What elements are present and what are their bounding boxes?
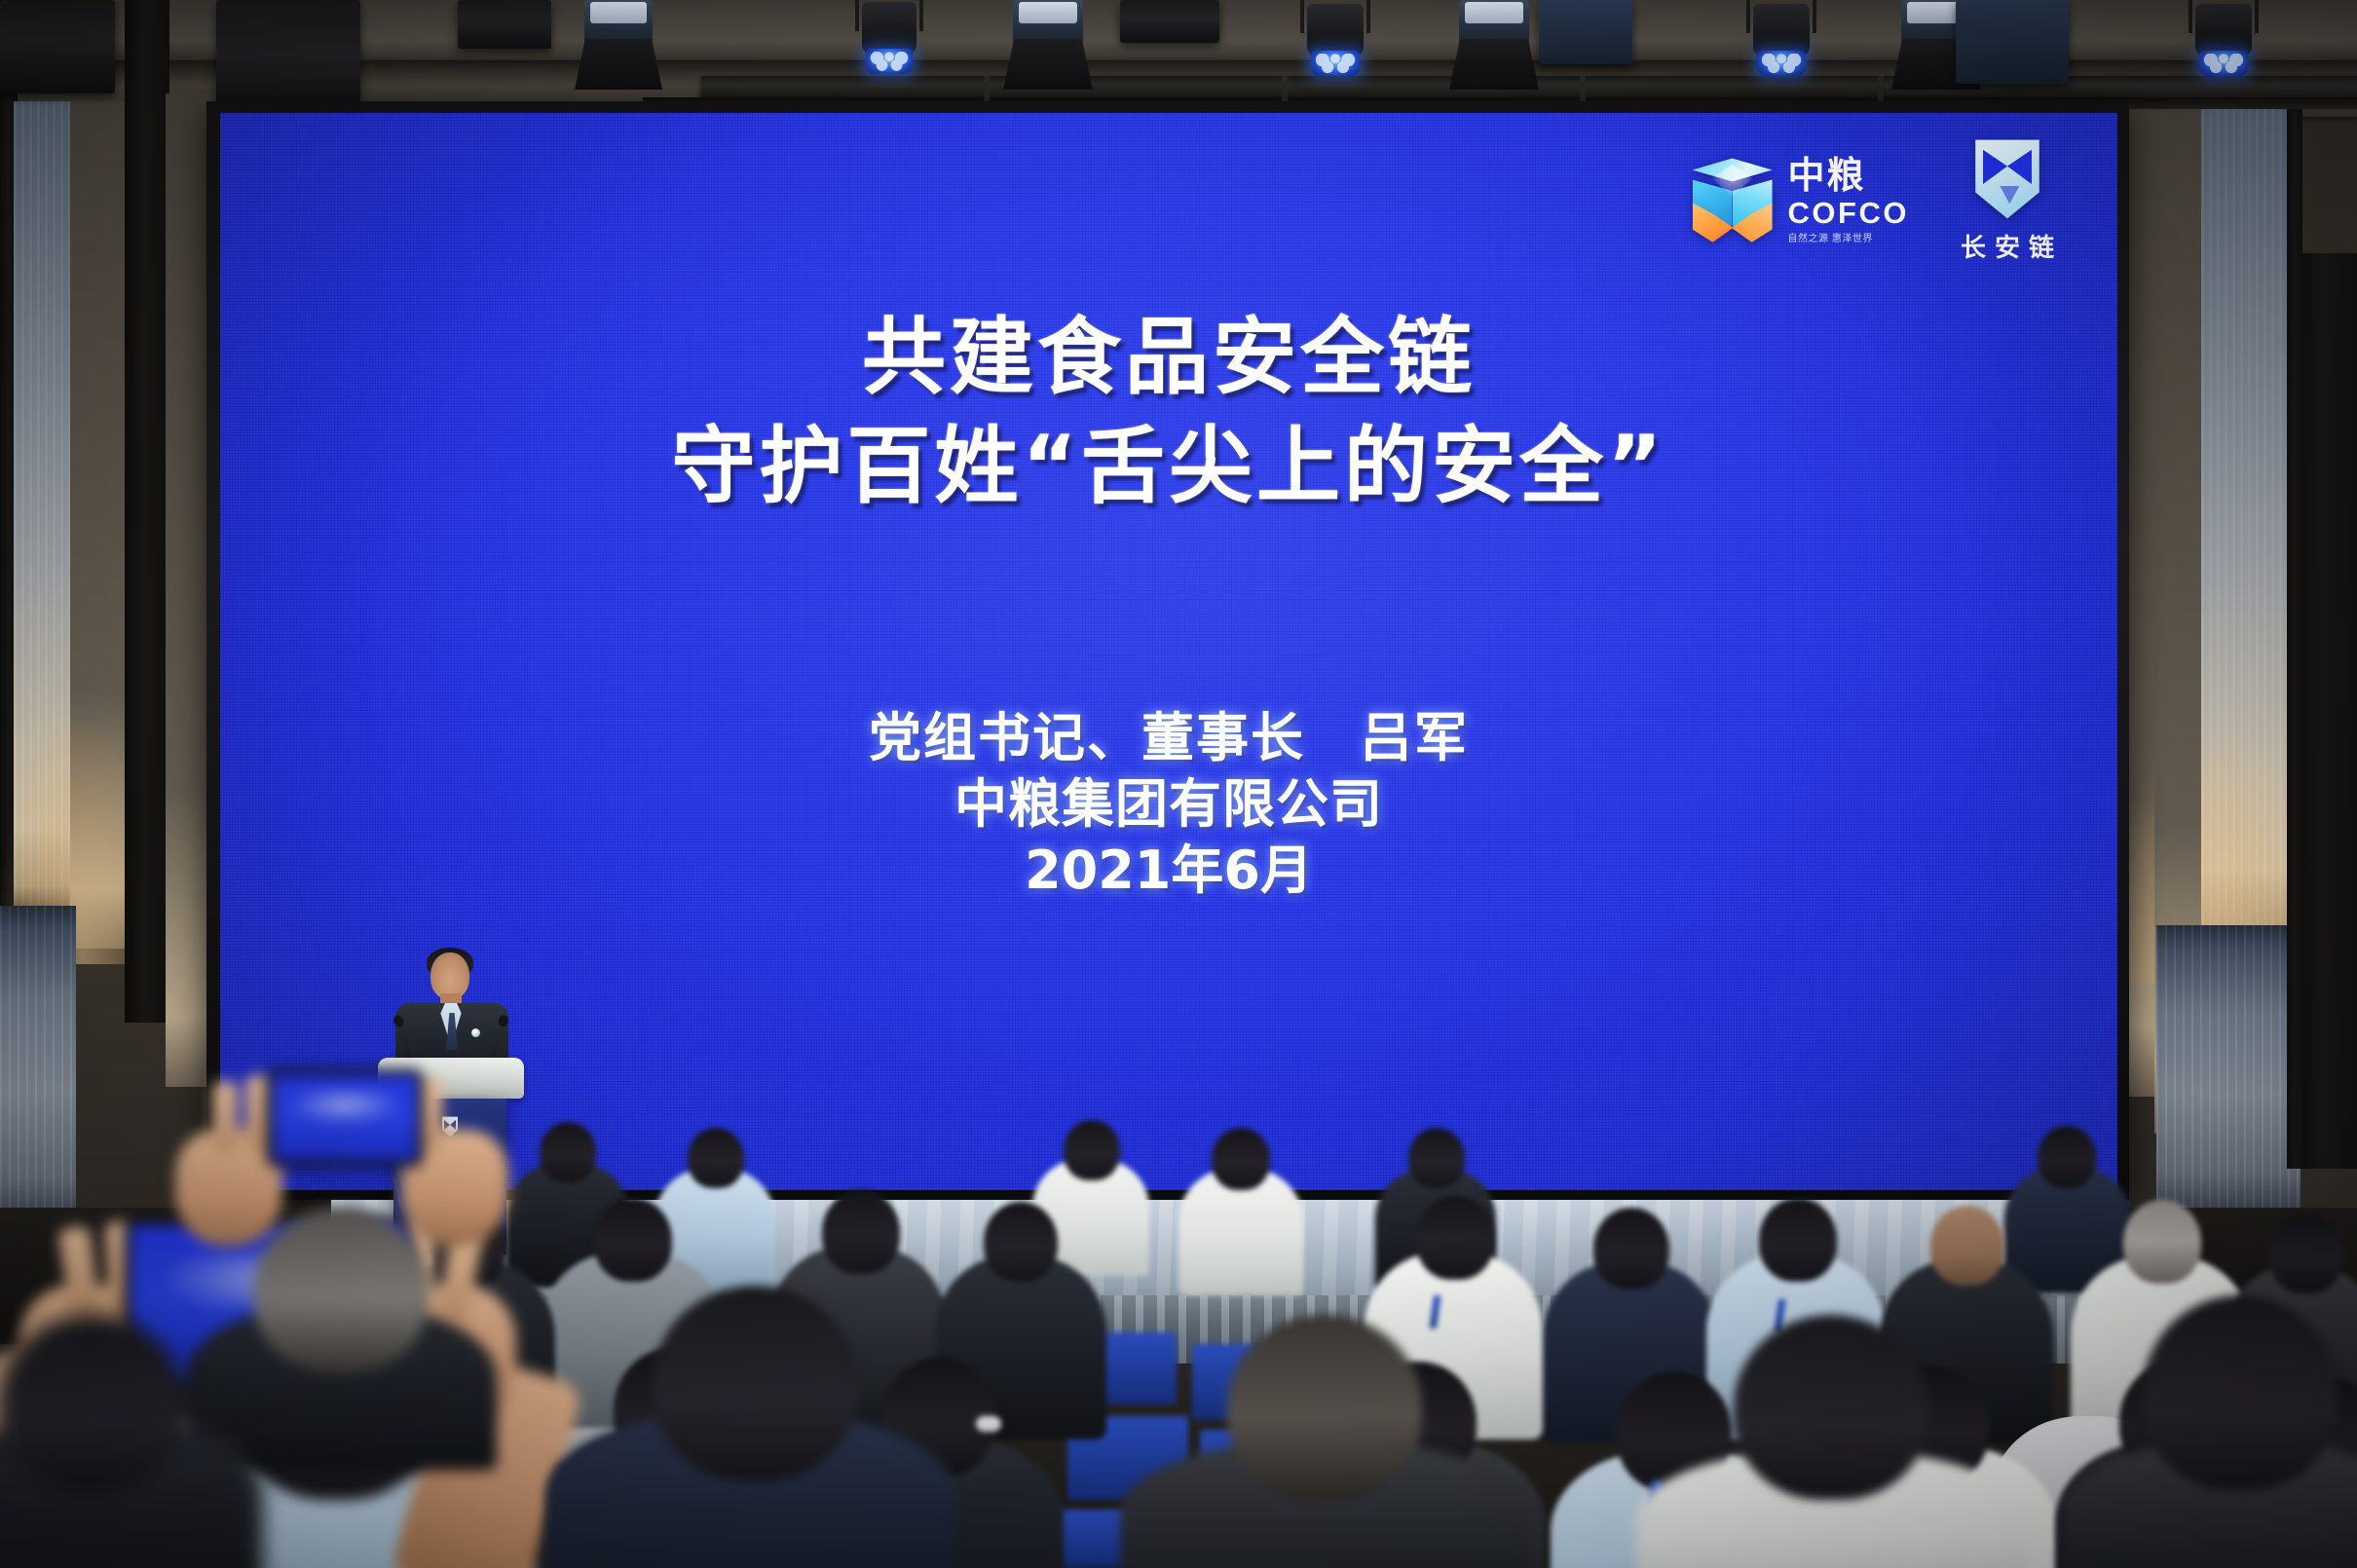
foreground-head xyxy=(0,1315,185,1490)
slide-subtitle-line-3: 2021年6月 xyxy=(220,838,2117,904)
barn-doors xyxy=(575,39,662,90)
shield-shape xyxy=(1969,138,2045,220)
cofco-name-en: COFCO xyxy=(1788,198,1909,230)
truss-web-3 xyxy=(1580,76,1586,101)
led-array xyxy=(1760,54,1803,73)
phone-screen-reflection xyxy=(287,1091,402,1125)
light-body xyxy=(1307,4,1364,56)
audience-head xyxy=(822,1190,900,1274)
changan-chain-shield-logo-icon xyxy=(1969,138,2045,220)
speaker-head xyxy=(430,952,469,999)
light-glow xyxy=(590,2,648,23)
truss-web-2 xyxy=(1282,76,1288,101)
cofco-cube-logo-icon xyxy=(1693,158,1773,243)
audience-head xyxy=(2123,1200,2201,1284)
led-array xyxy=(2202,54,2245,73)
smartphone-filming xyxy=(269,1071,421,1165)
audience-head xyxy=(984,1202,1058,1282)
changan-chain-name-cn: 长安链 xyxy=(1952,228,2063,264)
foreground-head xyxy=(653,1286,857,1480)
foreground-attendee-left-edge xyxy=(0,1295,273,1568)
light-body xyxy=(862,2,917,55)
light-glow xyxy=(1019,2,1077,23)
slide-title-line-2: 守护百姓“舌尖上的安全” xyxy=(220,413,2117,522)
rigging-block-right xyxy=(1956,0,2069,84)
wall-reveal-right xyxy=(2287,97,2302,1169)
audience-head xyxy=(1759,1198,1837,1282)
light-lens xyxy=(1311,51,1360,76)
phone-screen xyxy=(273,1075,417,1161)
foreground-attendee-right xyxy=(1636,1305,2026,1568)
truss-web-4 xyxy=(1878,76,1884,101)
led-array xyxy=(869,52,910,71)
light-lens xyxy=(2199,51,2248,76)
rigging-block-left xyxy=(458,0,551,49)
light-glow xyxy=(1465,2,1523,23)
light-lens xyxy=(1757,51,1806,76)
audience-head xyxy=(1064,1120,1120,1180)
foreground-attendee-center xyxy=(1120,1315,1529,1568)
cofco-wordmark: 中粮 COFCO 自然之源 惠泽世界 xyxy=(1788,158,1909,244)
barn-doors xyxy=(1449,39,1539,90)
changan-chain-logo-lockup: 长安链 xyxy=(1952,138,2063,264)
cofco-logo-lockup: 中粮 COFCO 自然之源 惠泽世界 xyxy=(1693,158,1909,244)
cofco-tagline: 自然之源 惠泽世界 xyxy=(1788,234,1873,244)
audience-head xyxy=(688,1128,744,1188)
foreground-attendee-right-edge xyxy=(2065,1286,2357,1568)
slide-subtitle: 党组书记、董事长 吕军 中粮集团有限公司 2021年6月 xyxy=(220,705,2117,904)
light-body xyxy=(2195,4,2252,56)
audience-head xyxy=(1593,1208,1669,1289)
foreground-head xyxy=(1734,1315,1928,1500)
foreground-attendee-center-left xyxy=(545,1266,954,1568)
audience-head xyxy=(1416,1196,1494,1280)
audience-head xyxy=(1408,1128,1465,1188)
audience-head xyxy=(2269,1213,2343,1293)
conference-hall-photo: 中粮 COFCO 自然之源 惠泽世界 长安链 共建食品安全链 守护百姓“舌尖上的… xyxy=(0,0,2357,1568)
wall-panel-left-outer xyxy=(14,101,74,910)
rigging-block-center xyxy=(1120,0,1219,43)
ceiling-speaker-left xyxy=(0,0,115,93)
wall-reveal-left xyxy=(125,0,169,1023)
finger xyxy=(245,1075,271,1151)
audience-head xyxy=(1212,1128,1270,1190)
light-lens xyxy=(866,49,913,74)
truss-web-1 xyxy=(984,76,990,101)
foreground-head xyxy=(2143,1295,2338,1490)
light-body xyxy=(1753,4,1810,56)
face-mask xyxy=(976,1416,1001,1432)
finger xyxy=(212,1081,238,1153)
slide-subtitle-line-1: 党组书记、董事长 吕军 xyxy=(220,705,2117,771)
cofco-name-cn: 中粮 xyxy=(1788,158,1866,195)
slide-subtitle-line-2: 中粮集团有限公司 xyxy=(220,771,2117,838)
rigging-block-mid xyxy=(1539,0,1632,64)
audience-head xyxy=(1930,1206,2004,1286)
slide-title-line-1: 共建食品安全链 xyxy=(220,304,2117,413)
slide-title: 共建食品安全链 守护百姓“舌尖上的安全” xyxy=(220,304,2117,522)
audience-head xyxy=(2038,1126,2096,1188)
led-array xyxy=(1314,54,1357,73)
barn-doors xyxy=(1003,39,1093,90)
foreground-head xyxy=(253,1208,429,1373)
wall-panel-left-inner xyxy=(70,101,127,949)
foreground-head xyxy=(1227,1315,1422,1500)
slide-logo-row: 中粮 COFCO 自然之源 惠泽世界 长安链 xyxy=(1693,138,2063,264)
